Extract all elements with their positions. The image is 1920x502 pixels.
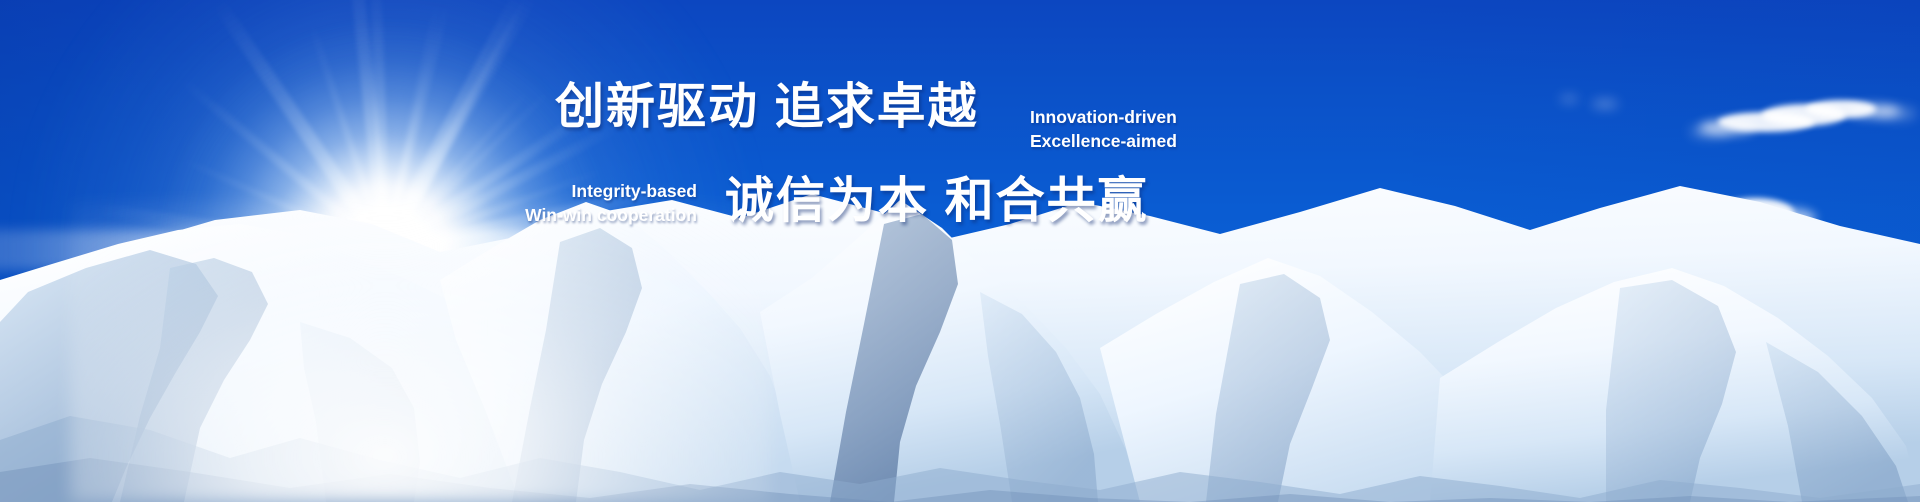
english-slogan-right: Innovation-driven Excellence-aimed — [1030, 106, 1177, 153]
banner-root: 创新驱动 追求卓越 Innovation-driven Excellence-a… — [0, 0, 1920, 502]
english-left-line-1: Integrity-based — [525, 180, 697, 204]
english-left-line-2: Win-win cooperation — [525, 204, 697, 228]
english-slogan-left: Integrity-based Win-win cooperation — [525, 180, 697, 227]
slogan-copy: 创新驱动 追求卓越 Innovation-driven Excellence-a… — [0, 0, 1920, 502]
english-right-line-1: Innovation-driven — [1030, 106, 1177, 130]
english-right-line-2: Excellence-aimed — [1030, 130, 1177, 154]
chinese-slogan-line-2: 诚信为本 和合共赢 — [725, 177, 1149, 226]
chinese-slogan-line-1: 创新驱动 追求卓越 — [555, 83, 979, 132]
